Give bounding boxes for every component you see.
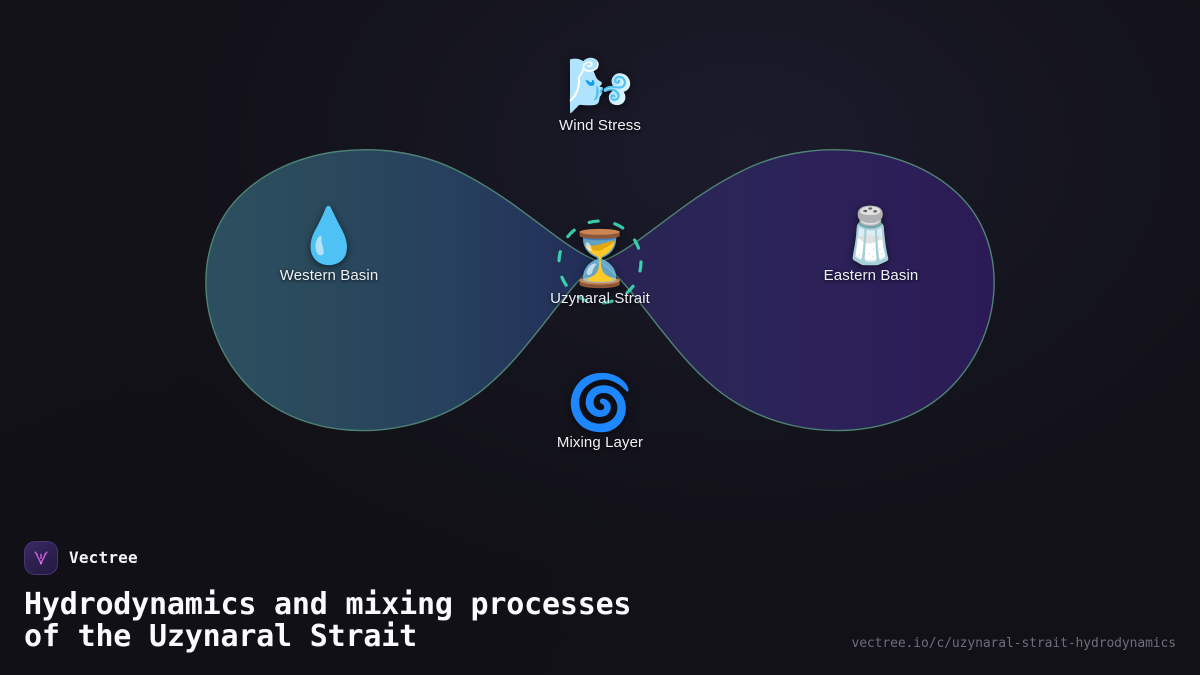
wind-blowing-face-icon: 🌬️ [490, 55, 710, 117]
node-label-mixing-layer: Mixing Layer [490, 434, 710, 451]
node-mixing-layer[interactable]: 🌀 Mixing Layer [490, 372, 710, 451]
node-eastern-basin[interactable]: 🧂 Eastern Basin [761, 205, 981, 284]
hourglass-icon: ⏳ [490, 228, 710, 290]
node-label-wind-stress: Wind Stress [490, 117, 710, 134]
salt-shaker-icon: 🧂 [761, 205, 981, 267]
cyclone-icon: 🌀 [490, 372, 710, 434]
page-title: Hydrodynamics and mixing processes of th… [24, 589, 844, 653]
node-wind-stress[interactable]: 🌬️ Wind Stress [490, 55, 710, 134]
node-label-uzynaral-strait: Uzynaral Strait [490, 290, 710, 307]
vectree-branch-icon [24, 541, 58, 575]
brand-name: Vectree [69, 548, 138, 567]
node-uzynaral-strait[interactable]: ⏳ Uzynaral Strait [490, 228, 710, 307]
source-url: vectree.io/c/uzynaral-strait-hydrodynami… [851, 636, 1176, 651]
infographic-canvas: 🌬️ Wind Stress 💧 Western Basin 🧂 Eastern… [0, 0, 1200, 675]
node-label-western-basin: Western Basin [219, 267, 439, 284]
node-label-eastern-basin: Eastern Basin [761, 267, 981, 284]
footer: Vectree Hydrodynamics and mixing process… [0, 541, 1200, 675]
node-western-basin[interactable]: 💧 Western Basin [219, 205, 439, 284]
brand[interactable]: Vectree [24, 541, 1176, 575]
droplet-icon: 💧 [219, 205, 439, 267]
